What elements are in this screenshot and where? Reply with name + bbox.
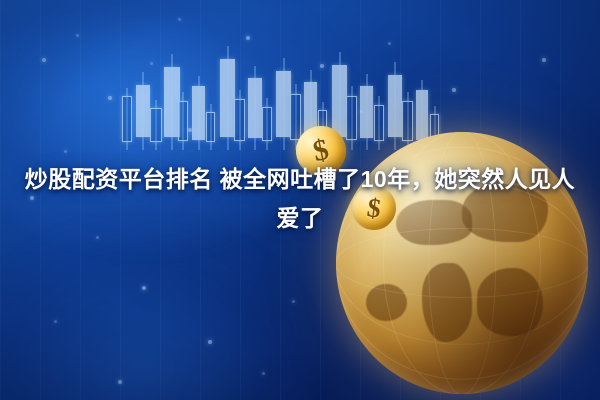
- candle-body: [248, 78, 262, 138]
- particle-dot: [54, 320, 57, 323]
- candle-body: [276, 71, 291, 137]
- thumbnail-image: $ $ 炒股配资平台排名 被全网吐槽了10年，她突然人见人爱了: [0, 0, 600, 400]
- candle-body: [178, 101, 188, 141]
- candlestick: [206, 52, 215, 150]
- particle-dot: [542, 58, 546, 62]
- candlestick: [136, 52, 150, 150]
- particle-dot: [178, 18, 181, 21]
- candle-body: [234, 99, 245, 141]
- candle-body: [290, 94, 301, 140]
- background-glow-bottom: [0, 220, 320, 400]
- particle-dot: [262, 372, 265, 375]
- particle-dot: [64, 150, 67, 153]
- candlestick: [248, 44, 262, 150]
- candle-body: [206, 112, 215, 142]
- particle-dot: [208, 340, 212, 344]
- particle-dot: [142, 286, 146, 290]
- particle-dot: [388, 42, 391, 45]
- candlestick: [262, 50, 272, 150]
- particle-dot: [42, 58, 46, 62]
- particle-dot: [452, 88, 456, 92]
- headline-text: 炒股配资平台排名 被全网吐槽了10年，她突然人见人爱了: [0, 160, 600, 238]
- candlestick: [122, 58, 132, 150]
- candlestick: [150, 56, 162, 150]
- stock-candlestick-chart: [120, 0, 450, 150]
- candle-body: [192, 86, 205, 140]
- particle-dot: [76, 34, 79, 37]
- candle-body: [122, 96, 132, 142]
- candlestick: [290, 50, 301, 150]
- candlestick: [234, 50, 245, 150]
- candlestick: [276, 44, 291, 150]
- particle-dot: [188, 128, 192, 132]
- candle-body: [136, 85, 150, 137]
- particle-dot: [108, 96, 112, 100]
- candle-body: [262, 107, 272, 141]
- particle-dot: [292, 300, 295, 303]
- candle-body: [150, 108, 162, 142]
- candlestick: [178, 56, 188, 150]
- candle-body: [220, 59, 235, 137]
- candle-body: [332, 65, 347, 137]
- candlestick: [220, 38, 235, 150]
- particle-dot: [360, 110, 363, 113]
- candlestick: [192, 50, 205, 150]
- particle-dot: [150, 62, 153, 65]
- particle-dot: [246, 36, 250, 40]
- candle-body: [388, 75, 402, 137]
- particle-dot: [320, 64, 324, 68]
- particle-dot: [118, 380, 122, 384]
